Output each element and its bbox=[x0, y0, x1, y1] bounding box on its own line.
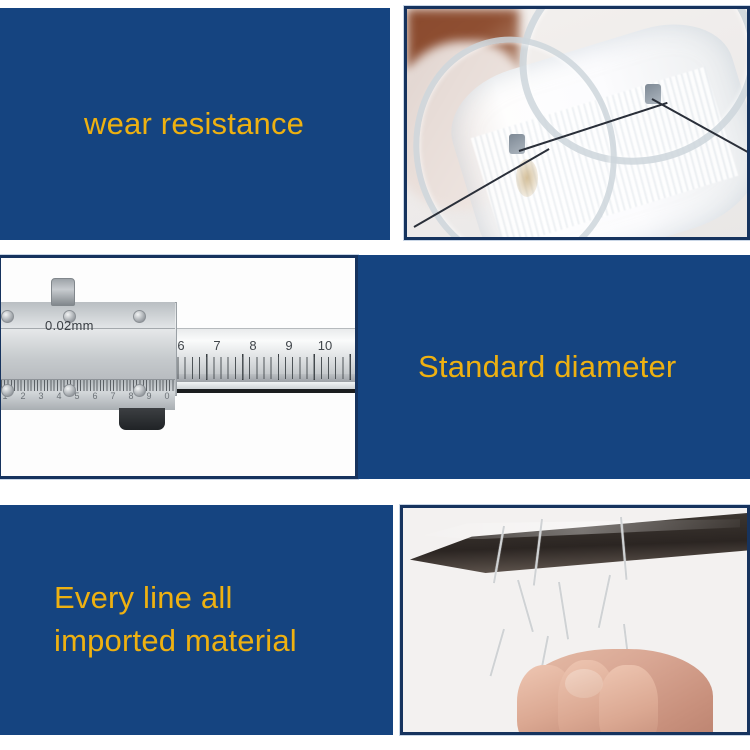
caliper-screw bbox=[133, 384, 146, 397]
caliper-vernier-number: 4 bbox=[56, 391, 61, 401]
caliper-vernier-ticks bbox=[1, 380, 175, 391]
caliper-vernier-number: 9 bbox=[146, 391, 151, 401]
caliper-vernier-number: 0 bbox=[164, 391, 169, 401]
caliper-lower-jaw bbox=[119, 408, 165, 430]
caliper-screw bbox=[1, 384, 14, 397]
product-feature-collage: wear resistance bbox=[0, 0, 750, 750]
caliper-screw bbox=[133, 310, 146, 323]
caliper-vernier-scale: 1 2 3 4 5 6 7 8 9 0 bbox=[1, 379, 175, 410]
caliper-screw bbox=[1, 310, 14, 323]
caliper-rail bbox=[175, 382, 355, 389]
caliper-vernier-number: 3 bbox=[38, 391, 43, 401]
caption-imported-material: imported material bbox=[0, 620, 393, 663]
photo-hand-holding-lines bbox=[400, 505, 750, 735]
caption-every-line-all: Every line all bbox=[0, 577, 393, 620]
caliper-scale-number: 6 bbox=[177, 338, 184, 353]
caliper-scale-number: 9 bbox=[285, 338, 292, 353]
hand-finger bbox=[599, 665, 657, 732]
caliper-vernier-numbers: 1 2 3 4 5 6 7 8 9 0 bbox=[1, 391, 175, 405]
caliper-vernier-number: 2 bbox=[20, 391, 25, 401]
caption-standard-diameter: Standard diameter bbox=[358, 346, 750, 389]
hand-photo-inner bbox=[403, 508, 747, 732]
caption-wear-resistance: wear resistance bbox=[0, 103, 390, 146]
caliper-vernier-number: 7 bbox=[110, 391, 115, 401]
caliper-precision-label: 0.02mm bbox=[45, 318, 94, 333]
caliper-scale-number: 7 bbox=[213, 338, 220, 353]
panel-wear-resistance: wear resistance bbox=[0, 8, 390, 240]
panel-imported-material: Every line all imported material bbox=[0, 505, 393, 735]
caliper-rail-shadow bbox=[175, 389, 355, 393]
photo-vernier-caliper: 1 2 3 4 5 6 7 8 9 10 0.02mm 1 bbox=[0, 255, 358, 479]
caliper-vernier-number: 6 bbox=[92, 391, 97, 401]
photo-fishing-line-spool bbox=[404, 6, 750, 240]
caliper-scale-number: 10 bbox=[318, 338, 332, 353]
caliper-photo-inner: 1 2 3 4 5 6 7 8 9 10 0.02mm 1 bbox=[1, 258, 355, 476]
caliper-scale-number: 8 bbox=[249, 338, 256, 353]
spool-clip-left bbox=[509, 134, 525, 154]
caliper-screw bbox=[63, 384, 76, 397]
spool-photo-inner bbox=[407, 9, 747, 237]
fingernail bbox=[565, 669, 603, 698]
panel-standard-diameter: Standard diameter bbox=[358, 255, 750, 479]
caliper-thumb-knob bbox=[51, 278, 75, 306]
